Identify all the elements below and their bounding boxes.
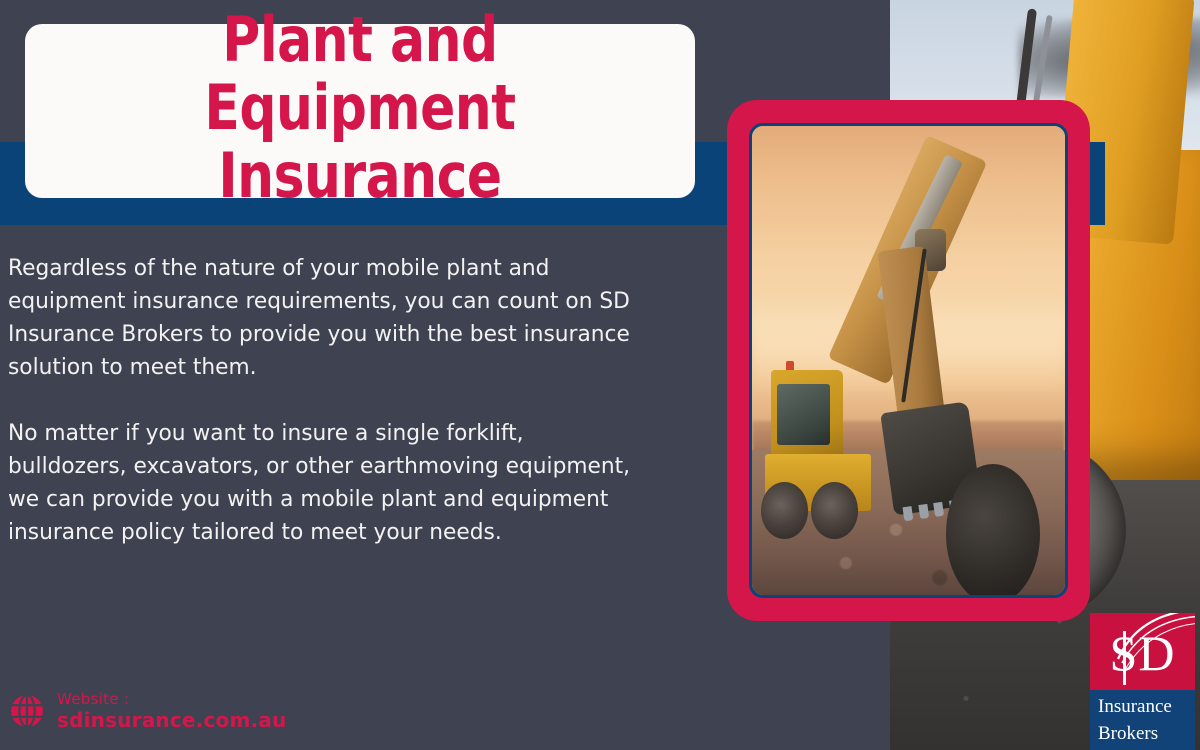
website-label: Website : xyxy=(57,692,286,707)
title-card: Plant and Equipment Insurance xyxy=(25,24,695,198)
body-paragraph-2: No matter if you want to insure a single… xyxy=(8,417,635,549)
website-block[interactable]: Website : sdinsurance.com.au xyxy=(10,692,286,730)
body-paragraph-1: Regardless of the nature of your mobile … xyxy=(8,252,635,384)
logo-red-block: SD xyxy=(1090,613,1195,690)
framed-photo-foreground-tire xyxy=(946,464,1040,598)
website-text: Website : sdinsurance.com.au xyxy=(57,692,286,730)
framed-photo-image xyxy=(749,123,1068,598)
website-url[interactable]: sdinsurance.com.au xyxy=(57,710,286,730)
framed-photo-loader-window xyxy=(777,384,830,445)
framed-photo-loader-front-wheel xyxy=(761,482,808,538)
logo-monogram: SD xyxy=(1090,627,1195,679)
bucket-tooth xyxy=(933,502,944,517)
body-copy: Regardless of the nature of your mobile … xyxy=(8,252,635,549)
globe-icon xyxy=(10,694,44,728)
logo-line-brokers: Brokers xyxy=(1098,720,1195,747)
sd-insurance-brokers-logo: SD Insurance Brokers xyxy=(1090,613,1195,750)
logo-line-insurance: Insurance xyxy=(1098,693,1195,720)
bucket-tooth xyxy=(902,507,913,522)
framed-photo xyxy=(727,100,1090,621)
logo-navy-block: Insurance Brokers xyxy=(1090,690,1195,750)
framed-photo-loader-rear-wheel xyxy=(811,482,858,538)
logo-monogram-stroke xyxy=(1123,631,1126,685)
page-title: Plant and Equipment Insurance xyxy=(73,6,648,211)
